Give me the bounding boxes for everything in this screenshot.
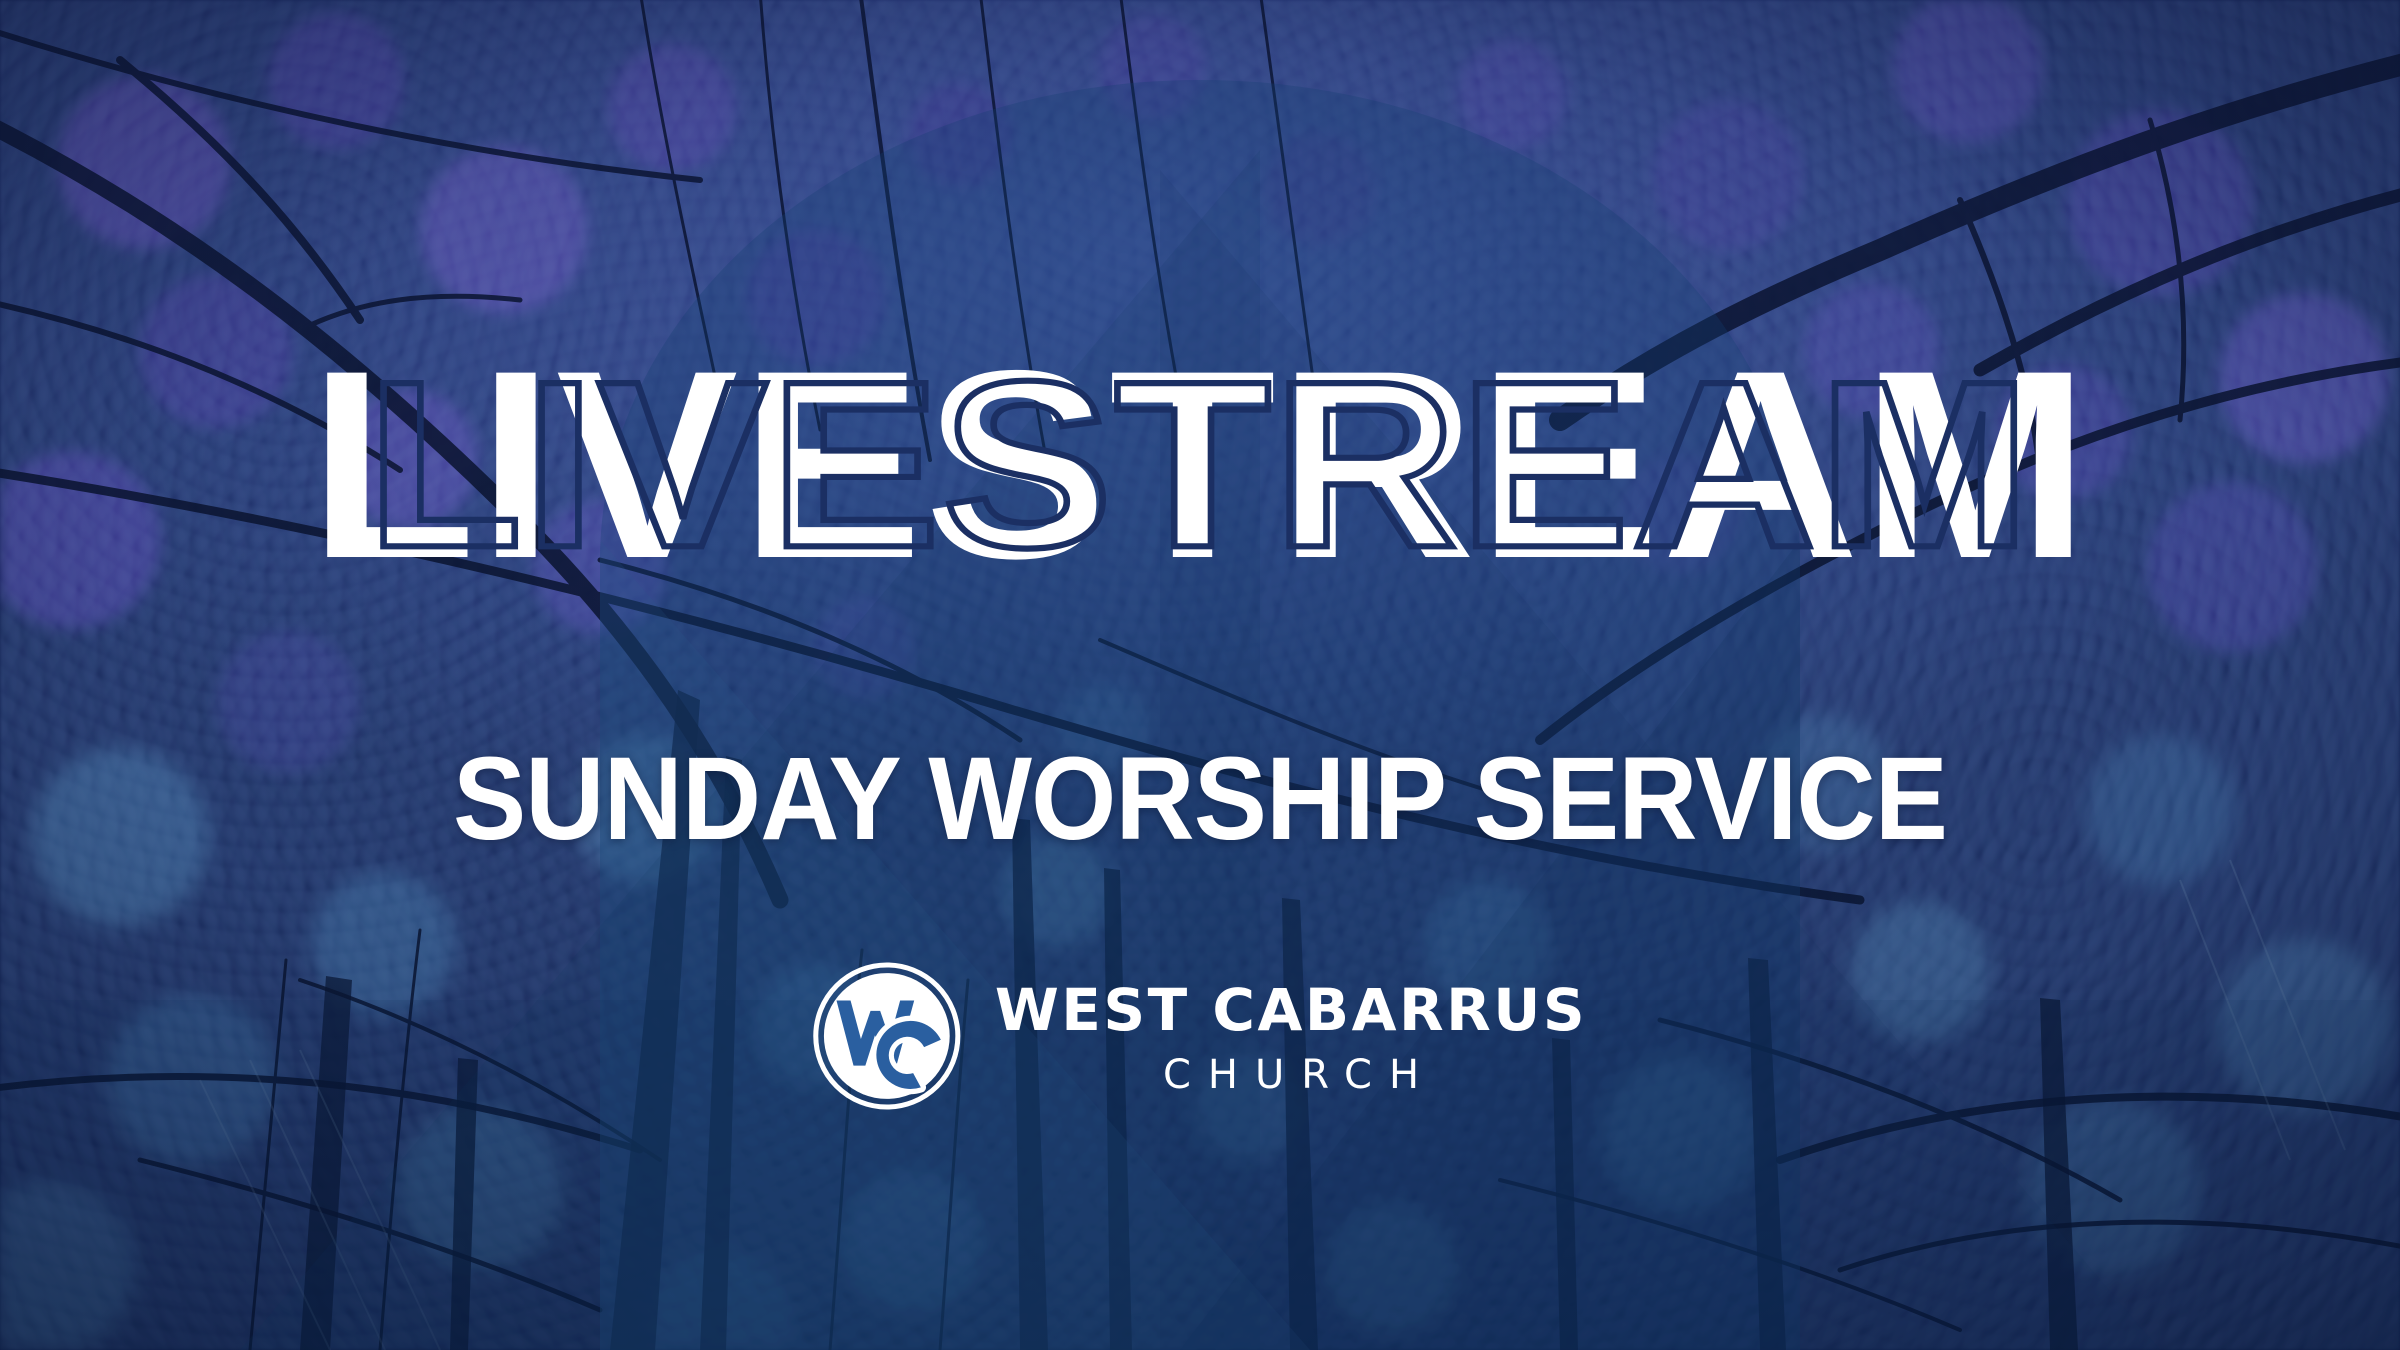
- livestream-graphic: LIVESTREAM LIVESTREAM SUNDAY WORSHIP SER…: [0, 0, 2400, 1350]
- page-subtitle: SUNDAY WORSHIP SERVICE: [84, 740, 2316, 858]
- logo-name: WEST CABARRUS: [995, 981, 1587, 1039]
- logo-wordmark: WEST CABARRUS CHURCH: [995, 977, 1587, 1095]
- wc-monogram-circle-icon: [813, 962, 961, 1110]
- page-title: LIVESTREAM LIVESTREAM: [0, 330, 2400, 598]
- page-title-text: LIVESTREAM: [309, 330, 2091, 598]
- church-logo: WEST CABARRUS CHURCH: [813, 962, 1587, 1110]
- arch-overlay-shape: [0, 0, 2400, 1350]
- logo-subname: CHURCH: [1146, 1055, 1436, 1095]
